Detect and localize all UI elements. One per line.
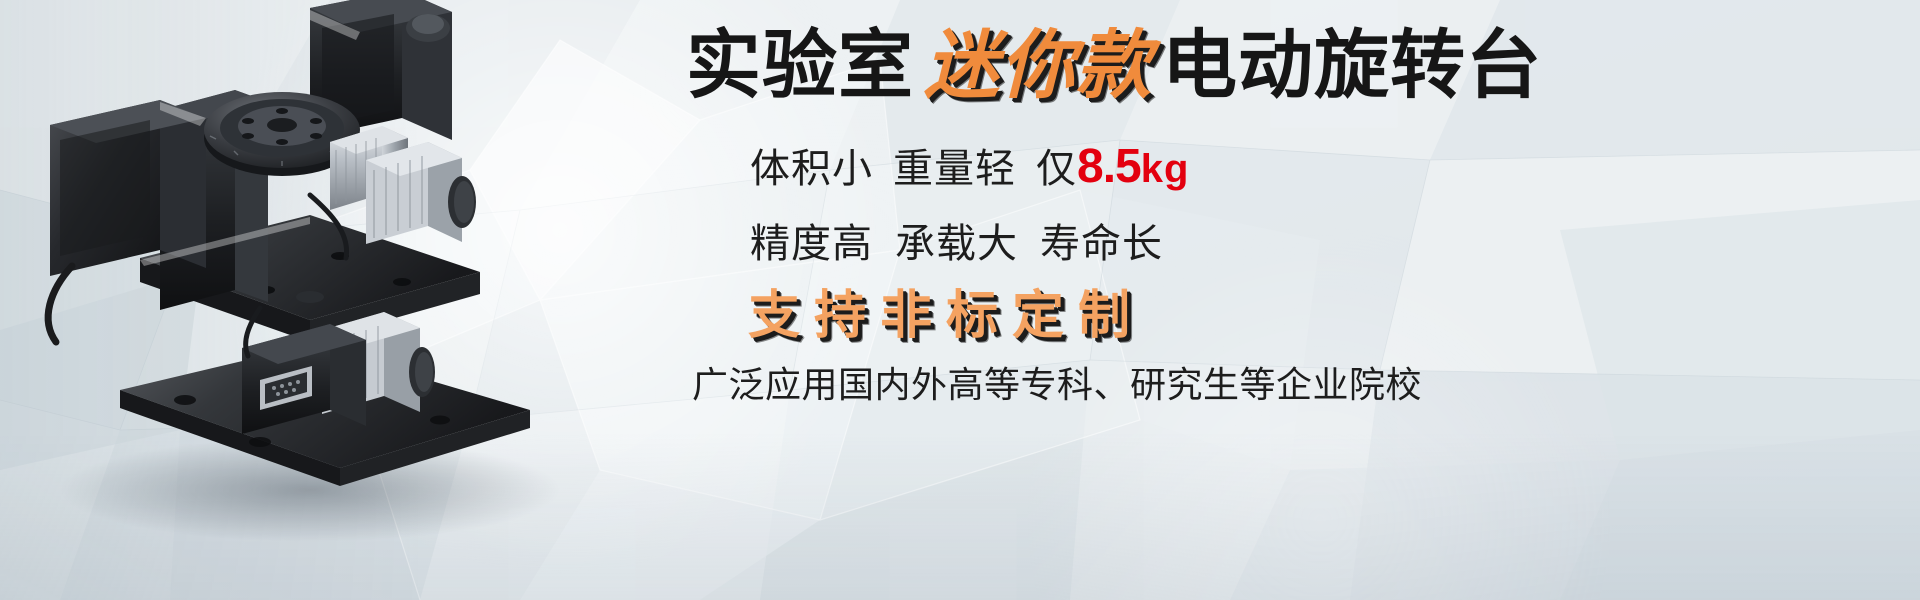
application-description: 广泛应用国内外高等专科、研究生等企业院校 xyxy=(692,367,1422,403)
weight-value: 8.5 xyxy=(1077,140,1141,193)
feature-line-performance: 精度高承载大寿命长 xyxy=(750,224,1163,264)
weight-unit: kg xyxy=(1141,147,1190,191)
title-part-2: 电动旋转台 xyxy=(1162,23,1542,107)
product-image xyxy=(10,0,630,590)
title-part-1: 实验室 xyxy=(686,23,914,107)
feature-lightweight: 重量轻 xyxy=(893,147,1016,191)
feature-line-weight: 体积小重量轻仅8.5kg xyxy=(750,143,1189,191)
feature-lifespan: 寿命长 xyxy=(1040,222,1163,266)
banner-title: 实验室迷你款电动旋转台 xyxy=(686,28,1542,103)
title-highlight: 迷你款 xyxy=(924,23,1152,107)
product-banner: 实验室迷你款电动旋转台 体积小重量轻仅8.5kg 精度高承载大寿命长 支持非标定… xyxy=(0,0,1920,600)
feature-load: 承载大 xyxy=(895,222,1018,266)
custom-order-headline: 支持非标定制 xyxy=(748,290,1144,342)
weight-prefix: 仅 xyxy=(1036,147,1077,191)
feature-compact: 体积小 xyxy=(750,147,873,191)
banner-copy: 实验室迷你款电动旋转台 体积小重量轻仅8.5kg 精度高承载大寿命长 支持非标定… xyxy=(686,0,1916,600)
feature-precision: 精度高 xyxy=(750,222,873,266)
